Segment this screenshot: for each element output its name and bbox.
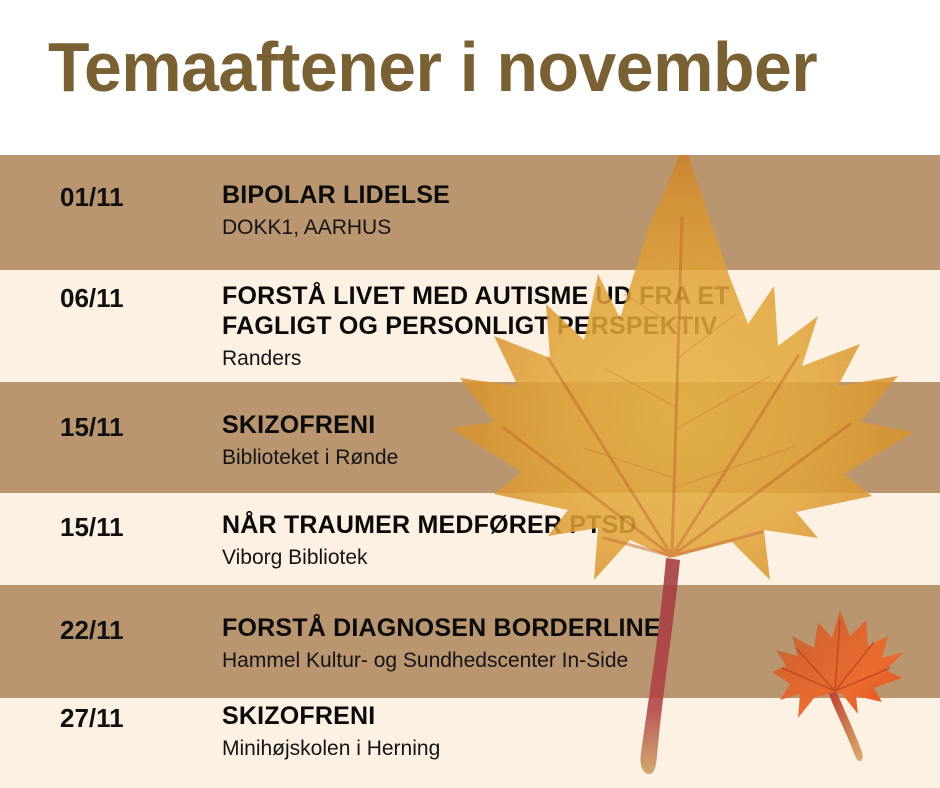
event-location: Hammel Kultur- og Sundhedscenter In-Side xyxy=(222,648,928,674)
event-location: DOKK1, AARHUS xyxy=(222,215,928,241)
event-date: 15/11 xyxy=(60,512,124,543)
event-location: Randers xyxy=(222,346,928,372)
event-date: 15/11 xyxy=(60,412,124,443)
poster: 01/11 BIPOLAR LIDELSE DOKK1, AARHUS 06/1… xyxy=(0,0,940,788)
event-date: 01/11 xyxy=(60,182,124,213)
title-band: Temaaftener i november xyxy=(0,0,940,155)
event-date: 06/11 xyxy=(60,283,124,314)
event-title: NÅR TRAUMER MEDFØRER PTSD xyxy=(222,510,928,540)
event-text-block: FORSTÅ LIVET MED AUTISME UD FRA ET FAGLI… xyxy=(222,281,928,372)
event-text-block: SKIZOFRENI Biblioteket i Rønde xyxy=(222,410,928,471)
event-title: BIPOLAR LIDELSE xyxy=(222,180,928,210)
event-text-block: NÅR TRAUMER MEDFØRER PTSD Viborg Bibliot… xyxy=(222,510,928,571)
event-date: 27/11 xyxy=(60,703,124,734)
event-title: SKIZOFRENI xyxy=(222,701,928,731)
event-text-block: FORSTÅ DIAGNOSEN BORDERLINE Hammel Kultu… xyxy=(222,613,928,674)
event-title: FORSTÅ DIAGNOSEN BORDERLINE xyxy=(222,613,928,643)
event-date: 22/11 xyxy=(60,615,124,646)
event-title: SKIZOFRENI xyxy=(222,410,928,440)
event-location: Minihøjskolen i Herning xyxy=(222,736,928,762)
event-text-block: SKIZOFRENI Minihøjskolen i Herning xyxy=(222,701,928,762)
page-title: Temaaftener i november xyxy=(48,26,817,108)
event-title: FORSTÅ LIVET MED AUTISME UD FRA ET FAGLI… xyxy=(222,281,822,341)
event-location: Viborg Bibliotek xyxy=(222,545,928,571)
event-location: Biblioteket i Rønde xyxy=(222,445,928,471)
event-text-block: BIPOLAR LIDELSE DOKK1, AARHUS xyxy=(222,180,928,241)
